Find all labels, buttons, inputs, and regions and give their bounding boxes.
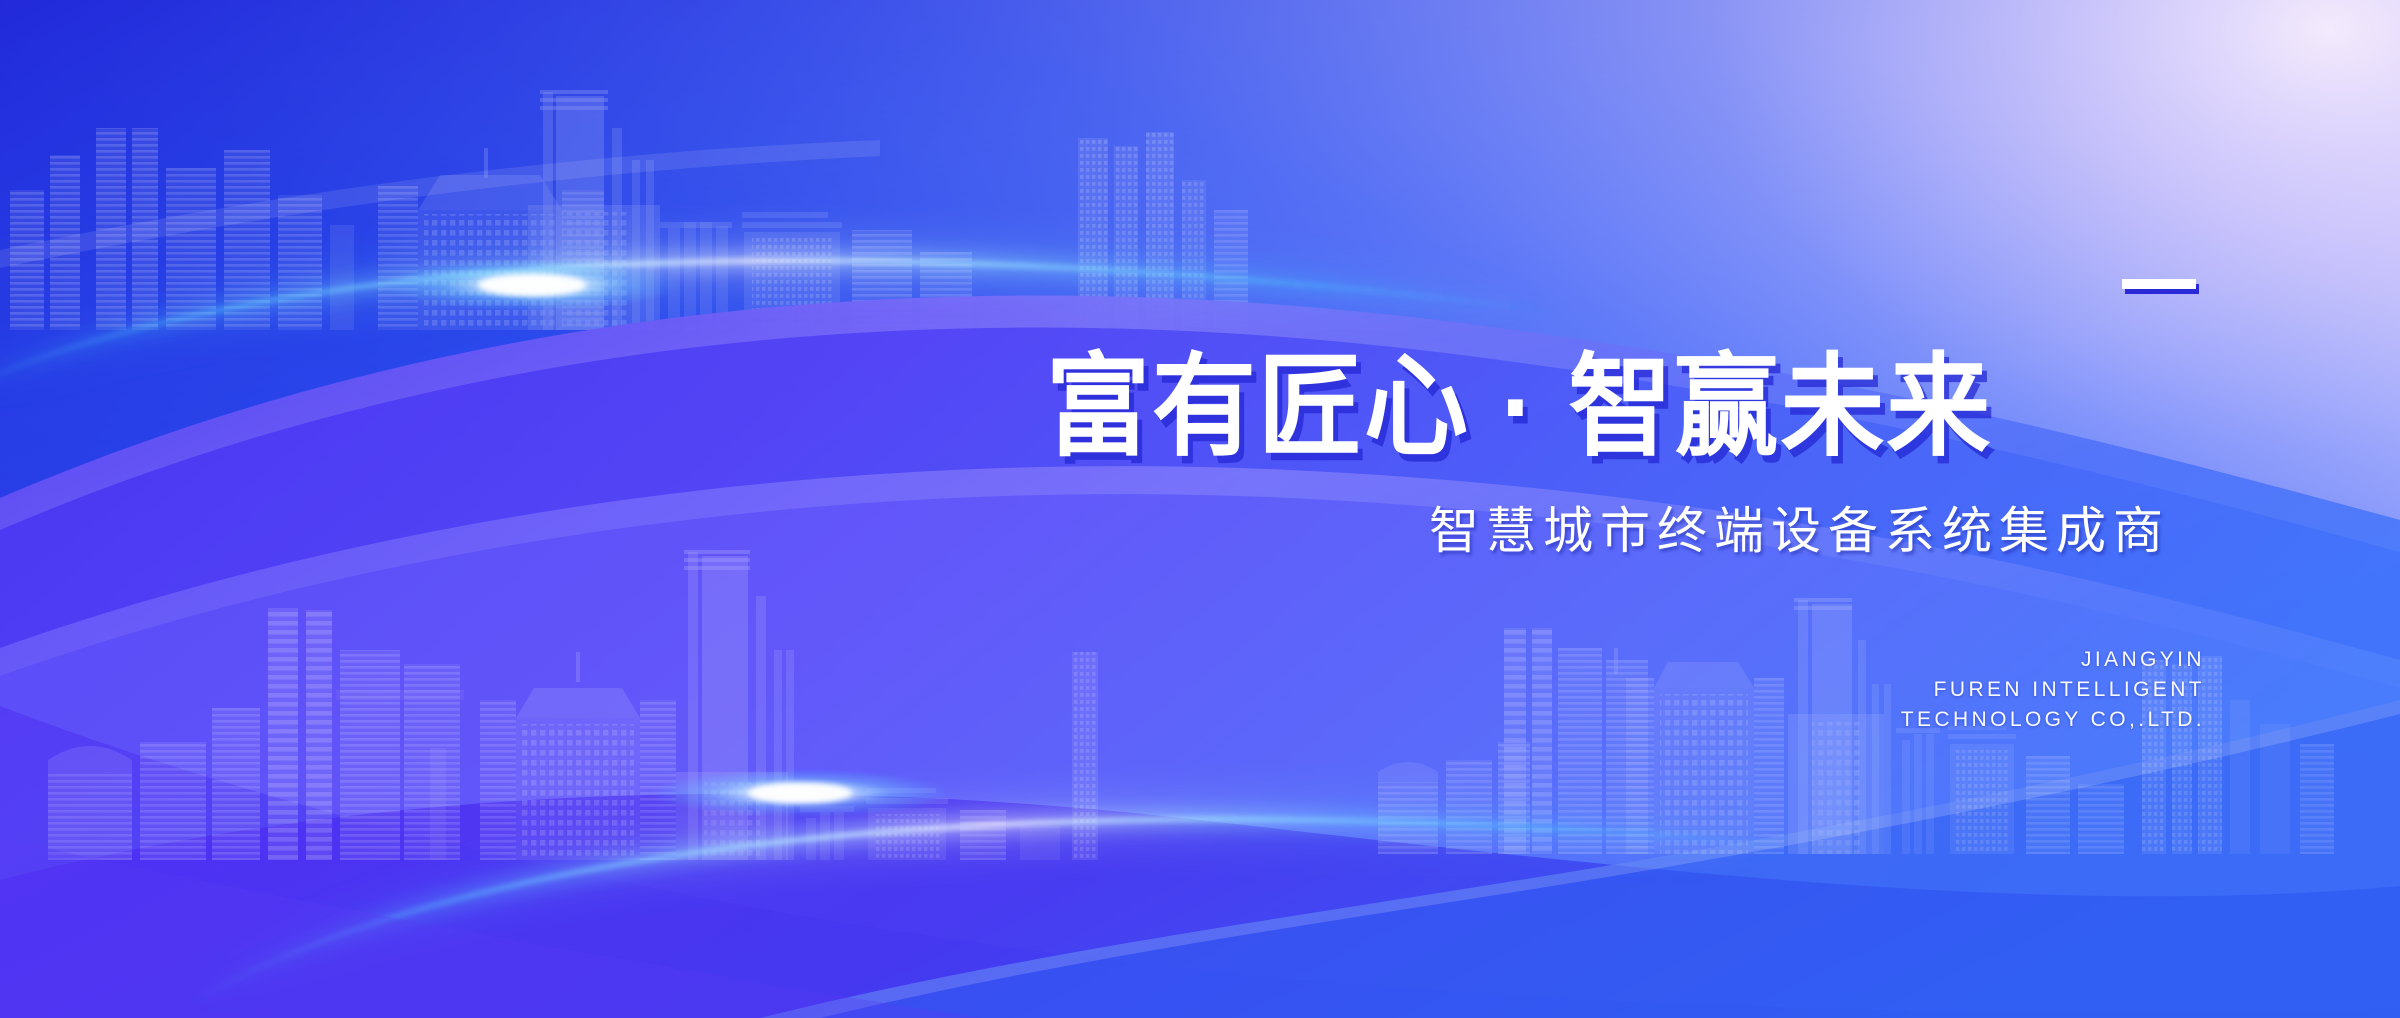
background-artwork [0,0,2400,1018]
banner-canvas: 富有匠心 · 智赢未来 智慧城市终端设备系统集成商 JIANGYIN FUREN… [0,0,2400,1018]
